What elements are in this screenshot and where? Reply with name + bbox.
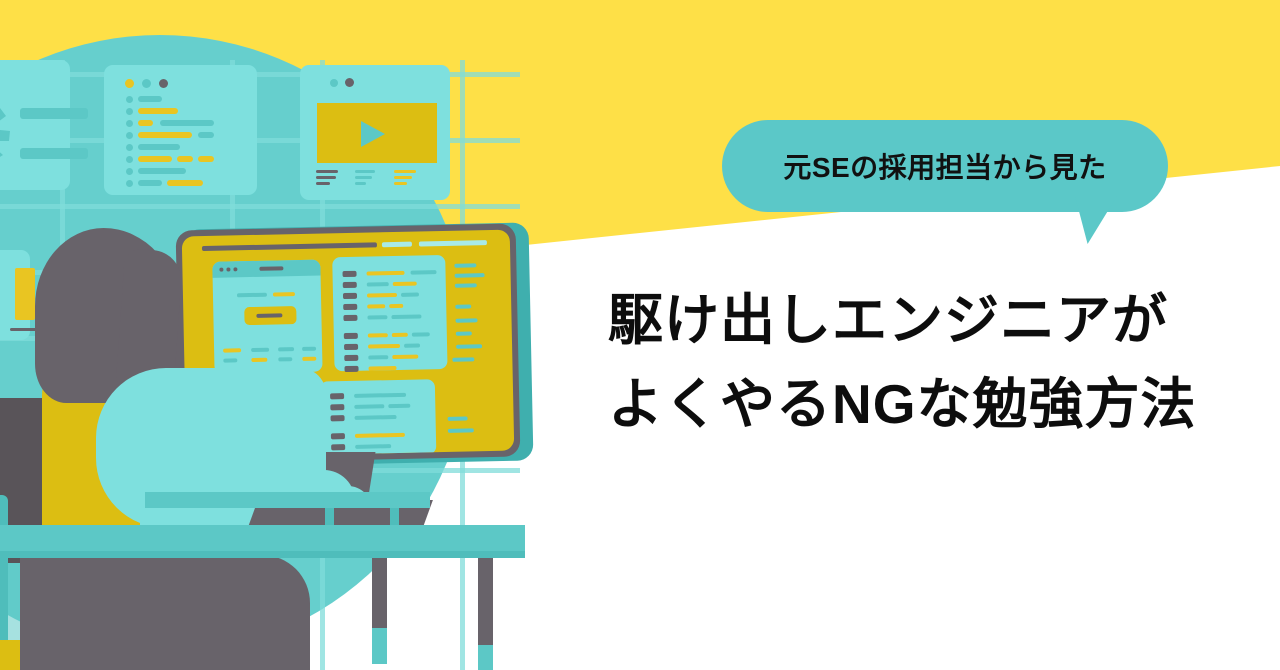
headline: 駆け出しエンジニアが よくやるNGな勉強方法 <box>608 278 1248 446</box>
window-dot-grey <box>159 79 168 88</box>
video-browser-window <box>300 65 450 200</box>
window-dot-teal <box>142 79 151 88</box>
headline-line-2: よくやるNGな勉強方法 <box>608 362 1248 446</box>
gear-icon <box>0 98 12 160</box>
window-dot-teal <box>330 79 338 87</box>
desk-leg-right-tip <box>478 645 493 670</box>
ogp-banner: 元SEの採用担当から見た 駆け出しエンジニアが よくやるNGな勉強方法 <box>0 0 1280 670</box>
desk-leg-left-tip <box>372 628 387 664</box>
desk-edge <box>0 551 525 558</box>
speech-bubble-tail-icon <box>1075 196 1117 244</box>
desk-leg-left <box>372 558 387 636</box>
window-dot-yellow <box>125 79 134 88</box>
play-triangle-icon <box>361 121 385 147</box>
desk-leg-right <box>478 558 493 656</box>
person-shin <box>230 595 290 670</box>
code-browser-window <box>104 65 257 195</box>
desk-top <box>0 525 525 551</box>
keyboard-tray <box>145 492 430 508</box>
window-dot-grey <box>345 78 354 87</box>
wall-panel-lower-left <box>0 250 30 340</box>
video-thumbnail <box>317 103 437 163</box>
headline-line-1: 駆け出しエンジニアが <box>608 278 1248 362</box>
badge-label: 元SEの採用担当から見た <box>783 146 1106 186</box>
